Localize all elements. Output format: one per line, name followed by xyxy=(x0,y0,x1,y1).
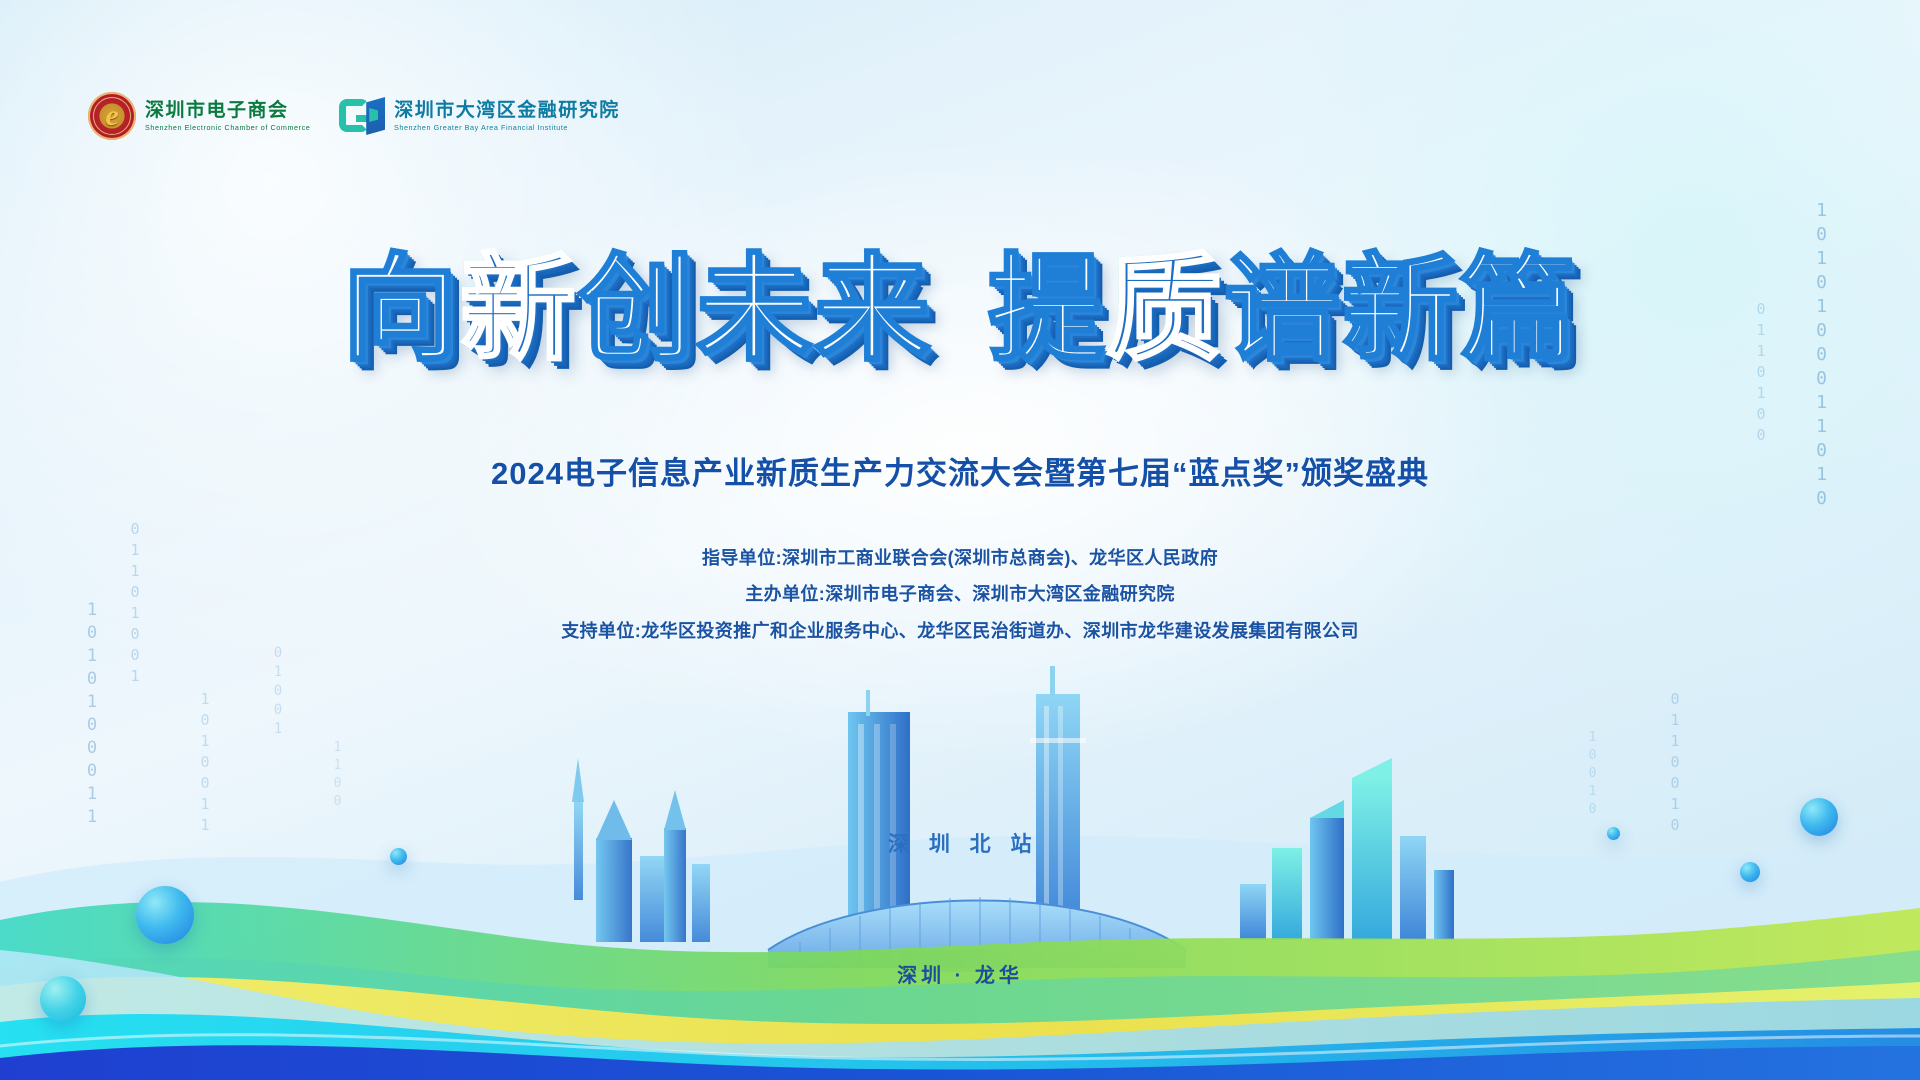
organizer-credits: 指导单位:深圳市工商业联合会(深圳市总商会)、龙华区人民政府 主办单位:深圳市电… xyxy=(0,540,1920,649)
binary-code-decor: 0110100 xyxy=(1752,300,1770,447)
decorative-sphere xyxy=(136,886,194,944)
logo-name-en: Shenzhen Greater Bay Area Financial Inst… xyxy=(394,124,610,132)
title-char: 提 xyxy=(988,252,1106,368)
decorative-sphere xyxy=(390,848,407,865)
organizer-line-host: 主办单位:深圳市电子商会、深圳市大湾区金融研究院 xyxy=(0,576,1920,612)
title-char: 新 xyxy=(1342,252,1460,368)
decorative-sphere xyxy=(1740,862,1760,882)
city-skyline-scene: 深 圳 北 站 深圳 · 龙华 xyxy=(0,650,1920,1080)
title-char: 向 xyxy=(342,252,460,368)
decorative-sphere xyxy=(1800,798,1838,836)
title-char: 创 xyxy=(578,252,696,368)
gbi-letter-g-shape xyxy=(339,99,369,132)
title-char: 质 xyxy=(1106,252,1224,368)
logo-text-block: 深圳市大湾区金融研究院 Shenzhen Greater Bay Area Fi… xyxy=(394,101,620,132)
logo-gba-financial-institute: 深圳市大湾区金融研究院 Shenzhen Greater Bay Area Fi… xyxy=(339,97,620,135)
title-char: 新 xyxy=(460,252,578,368)
title-char: 篇 xyxy=(1460,252,1578,368)
city-label: 深圳 · 龙华 xyxy=(0,959,1920,988)
logo-name-en: Shenzhen Electronic Chamber of Commerce xyxy=(145,124,310,132)
title-char: 来 xyxy=(814,252,932,368)
gbi-monogram-icon xyxy=(339,97,385,135)
event-subtitle: 2024电子信息产业新质生产力交流大会暨第七届“蓝点奖”颁奖盛典 xyxy=(0,448,1920,493)
logo-text-block: 深圳市电子商会 Shenzhen Electronic Chamber of C… xyxy=(145,101,317,132)
decorative-sphere xyxy=(1607,827,1620,840)
main-title: 向新创未来提质谱新篇 xyxy=(342,252,1578,368)
gbi-letter-b-shape xyxy=(366,97,385,135)
event-banner: 1010100011 01101001 1010011 01001 1100 1… xyxy=(0,0,1920,1080)
organizer-line-support: 支持单位:龙华区投资推广和企业服务中心、龙华区民治街道办、深圳市龙华建设发展集团… xyxy=(0,613,1920,649)
decorative-sphere xyxy=(40,976,86,1022)
main-title-area: 向新创未来提质谱新篇 xyxy=(0,252,1920,368)
logo-name-cn: 深圳市电子商会 xyxy=(145,101,317,121)
skyline-illustration xyxy=(0,650,1920,1080)
title-char: 谱 xyxy=(1224,252,1342,368)
chamber-seal-icon xyxy=(88,92,136,140)
logo-shenzhen-electronic-chamber: 深圳市电子商会 Shenzhen Electronic Chamber of C… xyxy=(88,92,317,140)
sponsor-logo-bar: 深圳市电子商会 Shenzhen Electronic Chamber of C… xyxy=(88,92,620,140)
title-char: 未 xyxy=(696,252,814,368)
logo-name-cn: 深圳市大湾区金融研究院 xyxy=(394,101,620,121)
station-label: 深 圳 北 站 xyxy=(888,828,1039,858)
organizer-line-guidance: 指导单位:深圳市工商业联合会(深圳市总商会)、龙华区人民政府 xyxy=(0,540,1920,576)
